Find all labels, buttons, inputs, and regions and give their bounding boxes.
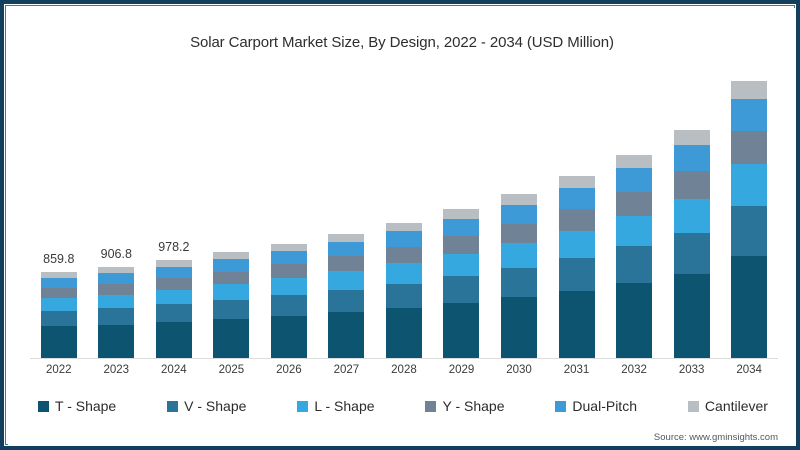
bar-segment[interactable] (559, 231, 595, 258)
legend-item[interactable]: T - Shape (38, 398, 116, 414)
bar-column[interactable] (720, 68, 778, 358)
bar-segment[interactable] (271, 264, 307, 278)
bar-segment[interactable] (98, 284, 134, 295)
bar-segment[interactable] (41, 278, 77, 288)
bar-series-group: 859.8906.8978.2 (30, 68, 778, 358)
bar-segment[interactable] (674, 171, 710, 198)
bar-segment[interactable] (41, 311, 77, 327)
bar-segment[interactable] (41, 326, 77, 358)
bar-segment[interactable] (443, 209, 479, 219)
chart-legend: T - ShapeV - ShapeL - ShapeY - ShapeDual… (38, 398, 768, 414)
stacked-bar[interactable] (501, 194, 537, 358)
square-swatch-icon (297, 401, 308, 412)
source-attribution: Source: www.gminsights.com (654, 432, 778, 443)
x-axis-tick-2030: 2030 (490, 364, 548, 376)
bar-column[interactable]: 978.2 (145, 68, 203, 358)
bar-segment[interactable] (443, 276, 479, 303)
bar-segment[interactable] (501, 243, 537, 268)
bar-segment[interactable] (616, 216, 652, 247)
bar-segment[interactable] (98, 273, 134, 283)
bar-column[interactable] (605, 68, 663, 358)
legend-item-label: L - Shape (314, 398, 374, 414)
square-swatch-icon (555, 401, 566, 412)
x-axis-tick-2033: 2033 (663, 364, 721, 376)
bar-column[interactable] (490, 68, 548, 358)
x-axis-tick-2025: 2025 (203, 364, 261, 376)
bar-segment[interactable] (271, 251, 307, 264)
bar-value-label: 906.8 (101, 247, 132, 261)
bar-segment[interactable] (559, 258, 595, 291)
plot-area: 859.8906.8978.2 (30, 68, 778, 358)
bar-column[interactable] (663, 68, 721, 358)
legend-item[interactable]: Dual-Pitch (555, 398, 637, 414)
bar-segment[interactable] (328, 256, 364, 271)
x-axis-tick-2028: 2028 (375, 364, 433, 376)
bar-segment[interactable] (98, 325, 134, 359)
x-axis-tick-2027: 2027 (318, 364, 376, 376)
bar-segment[interactable] (156, 322, 192, 358)
bar-segment[interactable] (559, 209, 595, 231)
chart-title: Solar Carport Market Size, By Design, 20… (8, 34, 796, 51)
chart-canvas: Solar Carport Market Size, By Design, 20… (8, 8, 796, 446)
bar-segment[interactable] (674, 199, 710, 233)
legend-item-label: Dual-Pitch (572, 398, 637, 414)
bar-segment[interactable] (213, 259, 249, 271)
legend-item[interactable]: V - Shape (167, 398, 246, 414)
x-axis-tick-2022: 2022 (30, 364, 88, 376)
bar-segment[interactable] (731, 99, 767, 131)
bar-segment[interactable] (559, 188, 595, 209)
bar-segment[interactable] (213, 319, 249, 358)
bar-segment[interactable] (213, 284, 249, 300)
bar-segment[interactable] (616, 192, 652, 216)
bar-segment[interactable] (213, 300, 249, 319)
bar-segment[interactable] (156, 267, 192, 278)
bar-segment[interactable] (501, 268, 537, 298)
bar-column[interactable] (318, 68, 376, 358)
stacked-bar[interactable] (616, 155, 652, 358)
bar-segment[interactable] (443, 219, 479, 236)
legend-item[interactable]: L - Shape (297, 398, 374, 414)
bar-segment[interactable] (559, 176, 595, 188)
bar-segment[interactable] (271, 316, 307, 358)
stacked-bar[interactable] (674, 130, 710, 358)
bar-segment[interactable] (501, 224, 537, 244)
bar-value-label: 859.8 (43, 252, 74, 266)
legend-item[interactable]: Y - Shape (425, 398, 504, 414)
chart-frame: Solar Carport Market Size, By Design, 20… (0, 0, 800, 450)
bar-segment[interactable] (731, 206, 767, 256)
bar-value-label: 978.2 (158, 240, 189, 254)
bar-column[interactable] (433, 68, 491, 358)
bar-segment[interactable] (731, 81, 767, 99)
stacked-bar[interactable]: 978.2 (156, 260, 192, 358)
bar-column[interactable] (203, 68, 261, 358)
stacked-bar[interactable] (443, 209, 479, 358)
bar-segment[interactable] (386, 308, 422, 358)
legend-item[interactable]: Cantilever (688, 398, 768, 414)
square-swatch-icon (38, 401, 49, 412)
stacked-bar[interactable] (731, 81, 767, 358)
bar-segment[interactable] (616, 168, 652, 191)
bar-segment[interactable] (731, 164, 767, 206)
bar-segment[interactable] (156, 304, 192, 322)
x-axis-tick-2023: 2023 (88, 364, 146, 376)
x-axis-tick-2026: 2026 (260, 364, 318, 376)
bar-segment[interactable] (98, 295, 134, 309)
bar-segment[interactable] (501, 297, 537, 358)
bar-segment[interactable] (386, 231, 422, 247)
bar-segment[interactable] (443, 236, 479, 254)
bar-segment[interactable] (328, 271, 364, 290)
bar-column[interactable]: 859.8 (30, 68, 88, 358)
bar-segment[interactable] (328, 234, 364, 242)
bar-segment[interactable] (213, 252, 249, 259)
legend-item-label: Cantilever (705, 398, 768, 414)
bar-segment[interactable] (271, 295, 307, 316)
bar-segment[interactable] (41, 298, 77, 311)
bar-segment[interactable] (386, 284, 422, 308)
bar-segment[interactable] (328, 312, 364, 358)
bar-segment[interactable] (386, 223, 422, 232)
square-swatch-icon (167, 401, 178, 412)
bar-segment[interactable] (213, 272, 249, 285)
bar-segment[interactable] (386, 263, 422, 283)
legend-item-label: Y - Shape (442, 398, 504, 414)
x-axis-tick-2032: 2032 (605, 364, 663, 376)
bar-segment[interactable] (271, 278, 307, 295)
stacked-bar[interactable] (386, 223, 422, 358)
bar-segment[interactable] (559, 291, 595, 358)
stacked-bar[interactable]: 906.8 (98, 267, 134, 358)
stacked-bar[interactable] (328, 234, 364, 358)
bar-segment[interactable] (501, 194, 537, 205)
bar-segment[interactable] (98, 308, 134, 324)
bar-segment[interactable] (731, 256, 767, 358)
stacked-bar[interactable] (271, 244, 307, 358)
bar-segment[interactable] (674, 233, 710, 274)
legend-item-label: V - Shape (184, 398, 246, 414)
x-axis-tick-2024: 2024 (145, 364, 203, 376)
bar-segment[interactable] (328, 290, 364, 312)
bar-column[interactable] (260, 68, 318, 358)
bar-segment[interactable] (271, 244, 307, 252)
bar-segment[interactable] (616, 155, 652, 168)
bar-segment[interactable] (443, 303, 479, 358)
x-axis-baseline (30, 358, 778, 359)
x-axis-tick-2029: 2029 (433, 364, 491, 376)
bar-segment[interactable] (443, 254, 479, 276)
stacked-bar[interactable] (559, 176, 595, 358)
bar-segment[interactable] (386, 247, 422, 263)
stacked-bar[interactable] (213, 252, 249, 358)
bar-segment[interactable] (616, 246, 652, 283)
bar-segment[interactable] (41, 288, 77, 298)
x-axis-tick-2031: 2031 (548, 364, 606, 376)
x-axis-tick-labels: 2022202320242025202620272028202920302031… (30, 364, 778, 376)
bar-column[interactable]: 906.8 (88, 68, 146, 358)
legend-item-label: T - Shape (55, 398, 116, 414)
bar-column[interactable] (375, 68, 433, 358)
bar-segment[interactable] (731, 131, 767, 164)
bar-segment[interactable] (674, 274, 710, 358)
square-swatch-icon (688, 401, 699, 412)
bar-segment[interactable] (674, 145, 710, 171)
bar-segment[interactable] (156, 290, 192, 305)
stacked-bar[interactable]: 859.8 (41, 272, 77, 358)
bar-segment[interactable] (616, 283, 652, 358)
bar-column[interactable] (548, 68, 606, 358)
square-swatch-icon (425, 401, 436, 412)
bar-segment[interactable] (156, 278, 192, 290)
bar-segment[interactable] (328, 242, 364, 256)
bar-segment[interactable] (674, 130, 710, 145)
x-axis-tick-2034: 2034 (720, 364, 778, 376)
bar-segment[interactable] (501, 205, 537, 224)
